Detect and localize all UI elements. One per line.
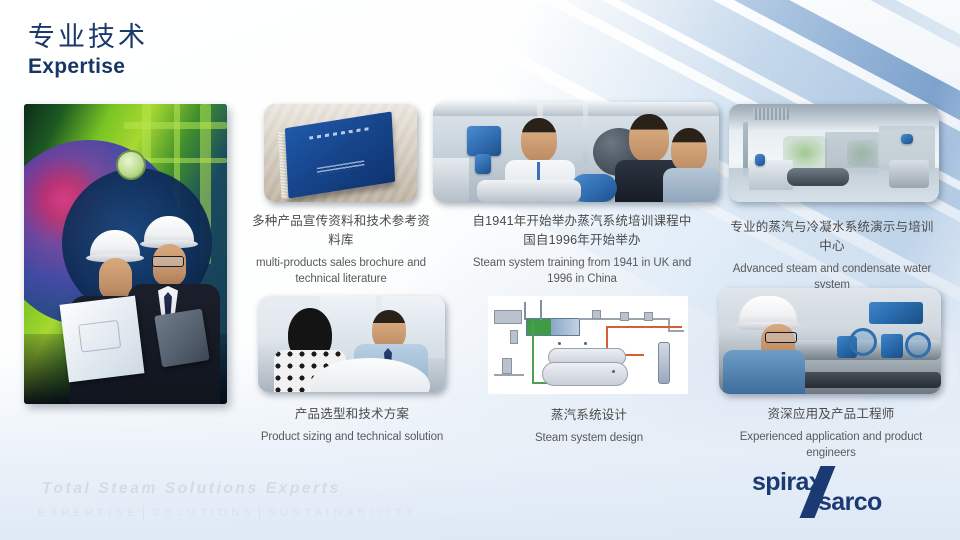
caption-training-cn: 自1941年开始举办蒸汽系统培训课程中国自1996年开始举办 bbox=[468, 212, 696, 250]
book-title-text bbox=[309, 127, 372, 140]
caption-system-design: 蒸汽系统设计 Steam system design bbox=[490, 406, 688, 446]
footer-pillars: EXPERTISE SOLUTIONS SUSTAINABILITY bbox=[38, 506, 418, 520]
schematic-valve bbox=[644, 312, 653, 321]
schematic-box bbox=[494, 310, 522, 324]
trainee-shirt bbox=[663, 168, 719, 202]
trainee-head bbox=[629, 114, 669, 162]
caption-engineers-cn: 资深应用及产品工程师 bbox=[722, 405, 940, 424]
caption-brochure-cn: 多种产品宣传资料和技术参考资料库 bbox=[252, 212, 430, 250]
footer-pillar-divider bbox=[143, 506, 144, 520]
blue-actuator bbox=[467, 126, 501, 156]
caption-demo-centre: 专业的蒸汽与冷凝水系统演示与培训中心 Advanced steam and co… bbox=[726, 218, 938, 293]
control-panel bbox=[433, 158, 469, 202]
slide-expertise: 专业技术 Expertise bbox=[0, 0, 960, 540]
card-image-product-sizing bbox=[258, 296, 445, 392]
schematic-canvas bbox=[488, 296, 688, 394]
caption-training-en: Steam system training from 1941 in UK an… bbox=[468, 255, 696, 288]
schematic-node bbox=[584, 342, 587, 345]
card-image-training bbox=[433, 102, 719, 202]
schematic-condensate-line bbox=[606, 326, 682, 328]
caption-demo-centre-cn: 专业的蒸汽与冷凝水系统演示与培训中心 bbox=[726, 218, 938, 256]
schematic-tank bbox=[658, 342, 670, 384]
page-title-en: Expertise bbox=[28, 55, 148, 79]
ceiling-vent bbox=[753, 108, 789, 120]
schematic-box bbox=[510, 330, 518, 344]
schematic-valve bbox=[592, 310, 601, 319]
caption-product-sizing-en: Product sizing and technical solution bbox=[258, 429, 446, 445]
lab-unit bbox=[889, 160, 929, 188]
schematic-line bbox=[494, 374, 524, 376]
actuator-stem bbox=[475, 154, 491, 174]
page-title-cn: 专业技术 bbox=[28, 22, 148, 53]
schematic-box bbox=[502, 358, 512, 374]
caption-training: 自1941年开始举办蒸汽系统培训课程中国自1996年开始举办 Steam sys… bbox=[468, 212, 696, 287]
hero-face bbox=[99, 258, 132, 300]
logo-text-sarco: sarco bbox=[818, 488, 882, 517]
footer-pillar-sustainability: SUSTAINABILITY bbox=[268, 507, 417, 519]
caption-system-design-en: Steam system design bbox=[490, 430, 688, 446]
card-image-system-design bbox=[488, 296, 688, 394]
footer-pillar-divider bbox=[259, 506, 260, 520]
schematic-green-line bbox=[532, 322, 534, 382]
page-title: 专业技术 Expertise bbox=[28, 22, 148, 79]
caption-system-design-cn: 蒸汽系统设计 bbox=[490, 406, 688, 425]
schematic-steam-line bbox=[668, 318, 670, 330]
glasses-icon bbox=[152, 256, 184, 267]
caption-brochure-en: multi-products sales brochure and techni… bbox=[252, 255, 430, 288]
blue-valve bbox=[881, 334, 903, 358]
trainee-head bbox=[521, 118, 557, 162]
hand-wheel-icon bbox=[849, 328, 877, 356]
footer-pillar-solutions: SOLUTIONS bbox=[152, 507, 255, 519]
schematic-vessel bbox=[542, 362, 628, 386]
caption-engineers: 资深应用及产品工程师 Experienced application and p… bbox=[722, 405, 940, 461]
card-image-engineers bbox=[719, 288, 941, 394]
spirax-sarco-logo: spirax sarco bbox=[748, 466, 938, 524]
schematic-line bbox=[524, 302, 526, 320]
trainee-head bbox=[671, 128, 707, 172]
schematic-line bbox=[540, 300, 542, 320]
caption-engineers-en: Experienced application and product engi… bbox=[722, 429, 940, 462]
hand-wheel-icon bbox=[905, 332, 931, 358]
engineer-shirt bbox=[723, 350, 805, 394]
steel-pipe bbox=[477, 180, 581, 202]
hero-gauge-icon bbox=[116, 150, 146, 180]
schematic-node bbox=[612, 370, 615, 373]
card-image-brochure bbox=[264, 104, 417, 202]
caption-product-sizing-cn: 产品选型和技术方案 bbox=[258, 405, 446, 424]
blue-actuator bbox=[869, 302, 923, 324]
hero-pipe bbox=[124, 122, 227, 129]
hero-photo-engineers bbox=[24, 104, 227, 404]
blue-actuator bbox=[755, 154, 765, 166]
schematic-valve bbox=[620, 312, 629, 321]
caption-brochure: 多种产品宣传资料和技术参考资料库 multi-products sales br… bbox=[252, 212, 430, 287]
book-subtitle-text bbox=[317, 160, 365, 175]
clipboard-icon bbox=[154, 309, 210, 368]
schematic-steam-line bbox=[668, 330, 684, 332]
schematic-boiler bbox=[526, 318, 580, 336]
footer-tagline: Total Steam Solutions Experts bbox=[42, 480, 341, 498]
card-image-demo-centre bbox=[729, 104, 939, 202]
ceiling-rail bbox=[433, 102, 719, 116]
schematic-node bbox=[558, 342, 561, 345]
blueprint-document bbox=[60, 296, 145, 383]
safety-glasses-icon bbox=[765, 332, 797, 343]
footer-pillar-expertise: EXPERTISE bbox=[38, 507, 139, 519]
dark-vessel bbox=[787, 168, 849, 186]
caption-product-sizing: 产品选型和技术方案 Product sizing and technical s… bbox=[258, 405, 446, 445]
vertical-pipe bbox=[583, 102, 588, 164]
blue-actuator bbox=[901, 134, 913, 144]
